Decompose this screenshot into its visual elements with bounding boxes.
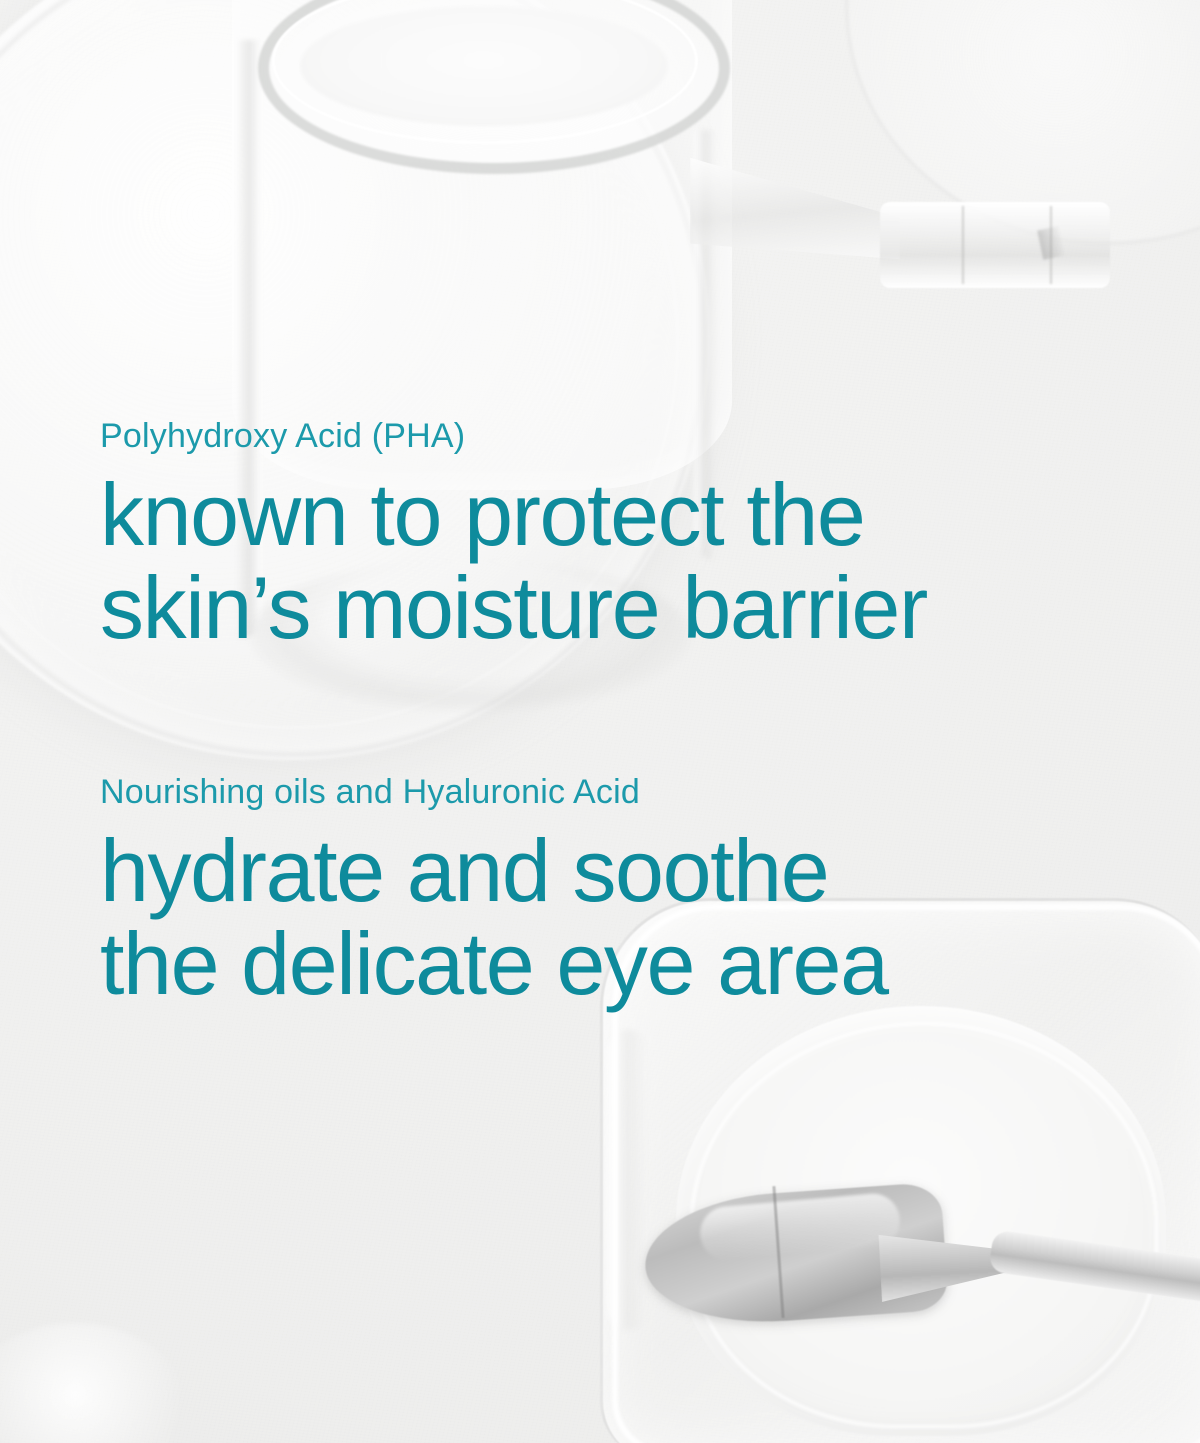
headline-pha-line-2: skin’s moisture barrier <box>100 561 927 654</box>
headline-oils-ha-line-1: hydrate and soothe <box>100 824 888 917</box>
copy-overlay: Polyhydroxy Acid (PHA) known to protect … <box>100 0 1140 1443</box>
benefit-block-oils-ha: Nourishing oils and Hyaluronic Acid hydr… <box>100 770 888 1010</box>
headline-pha-line-1: known to protect the <box>100 468 927 561</box>
marketing-banner: Polyhydroxy Acid (PHA) known to protect … <box>0 0 1200 1443</box>
headline-oils-ha-line-2: the delicate eye area <box>100 917 888 1010</box>
headline-pha: known to protect the skin’s moisture bar… <box>100 468 927 654</box>
eyebrow-oils-ha: Nourishing oils and Hyaluronic Acid <box>100 770 888 814</box>
benefit-block-pha: Polyhydroxy Acid (PHA) known to protect … <box>100 414 927 654</box>
headline-oils-ha: hydrate and soothe the delicate eye area <box>100 824 888 1010</box>
eyebrow-pha: Polyhydroxy Acid (PHA) <box>100 414 927 458</box>
